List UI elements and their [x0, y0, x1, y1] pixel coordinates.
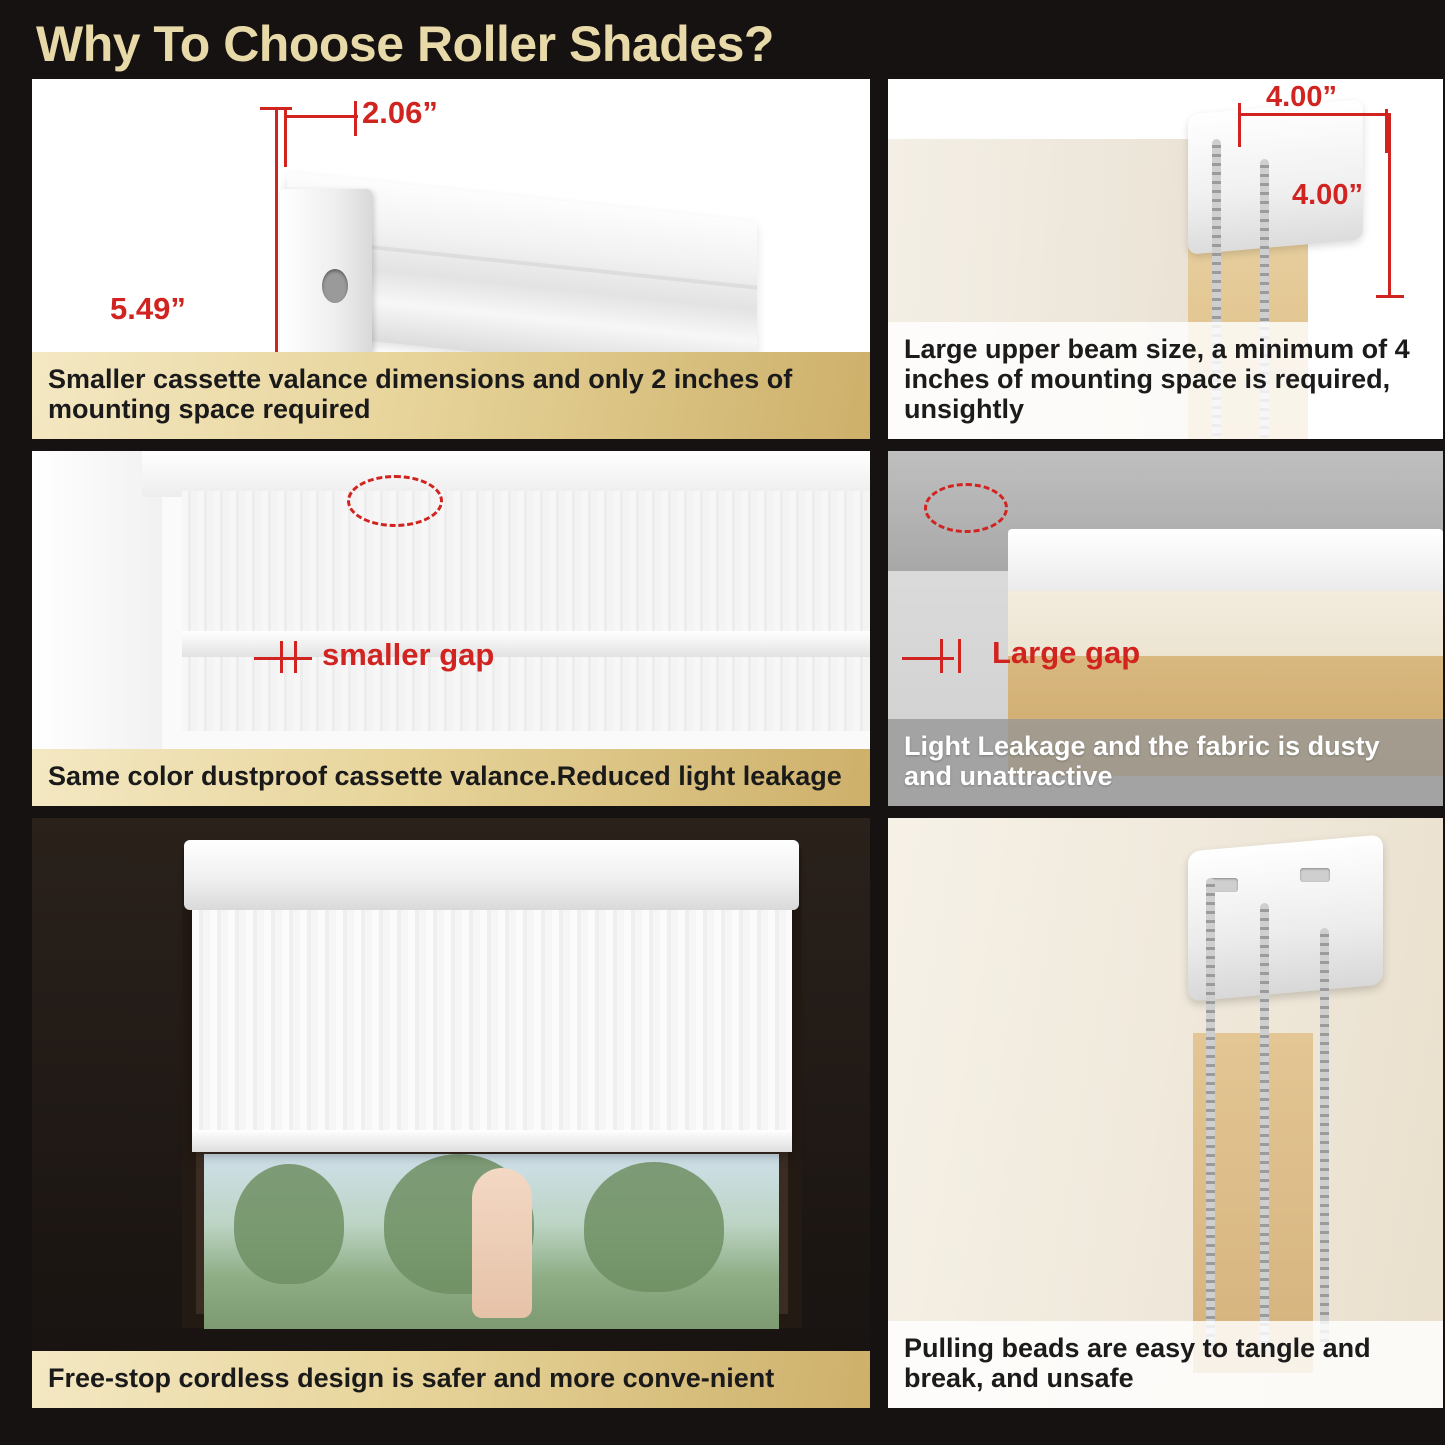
card-grid: 2.06” 5.49” Smaller cassette valance dim… — [18, 79, 1427, 1408]
page-title: Why To Choose Roller Shades? — [18, 0, 1427, 79]
shade-fabric — [182, 491, 870, 731]
card-cassette-valance: 2.06” 5.49” Smaller cassette valance dim… — [32, 79, 870, 439]
bead-chain-middle — [1260, 903, 1269, 1353]
height-dim-tick-top — [260, 107, 292, 110]
card-caption: Same color dustproof cassette valance.Re… — [32, 749, 870, 805]
height-dimension: 5.49” — [110, 291, 186, 327]
gap-arrow-line-left — [902, 657, 954, 660]
card-pulling-beads: Pulling beads are easy to tangle and bre… — [888, 818, 1443, 1408]
width-dimension: 2.06” — [362, 95, 438, 131]
pulling-beads-photo — [888, 818, 1443, 1408]
width-dim-tick-right — [354, 101, 357, 136]
tree-shape — [584, 1162, 724, 1292]
cordless-design-photo — [32, 818, 870, 1408]
upper-valance — [1008, 529, 1443, 599]
gap-tick-1 — [940, 639, 943, 673]
card-caption: Pulling beads are easy to tangle and bre… — [888, 1321, 1443, 1407]
card-large-beam: 4.00” 4.00” Large upper beam size, a min… — [888, 79, 1443, 439]
card-light-leakage: Large gap Light Leakage and the fabric i… — [888, 451, 1443, 806]
beam-width-tick-left — [1238, 103, 1241, 147]
tree-shape — [234, 1164, 344, 1284]
gap-highlight-ellipse — [347, 475, 443, 527]
beam-depth-line — [1388, 113, 1391, 298]
gap-tick-1 — [280, 641, 283, 673]
beam-slot — [1300, 868, 1330, 882]
hand-photo — [472, 1168, 532, 1318]
card-caption: Light Leakage and the fabric is dusty an… — [888, 719, 1443, 805]
card-caption: Large upper beam size, a minimum of 4 in… — [888, 322, 1443, 439]
beam-depth-tick — [1376, 295, 1404, 298]
gap-highlight-ellipse — [924, 483, 1008, 533]
large-gap-label: Large gap — [992, 635, 1140, 671]
beam-depth-dimension: 4.00” — [1292, 179, 1363, 212]
gap-tick-2 — [958, 639, 961, 673]
gap-tick-2 — [294, 641, 297, 673]
beam-width-dimension: 4.00” — [1266, 81, 1337, 114]
bead-chain-left — [1206, 878, 1215, 1348]
cassette-headrail — [184, 840, 799, 910]
gap-arrow-line-left — [254, 657, 312, 660]
infographic-page: Why To Choose Roller Shades? 2.06” 5.49” — [0, 0, 1445, 1445]
card-dustproof-valance: smaller gap Same color dustproof cassett… — [32, 451, 870, 806]
card-caption: Smaller cassette valance dimensions and … — [32, 352, 870, 438]
bottom-bar — [192, 1130, 792, 1152]
card-caption: Free-stop cordless design is safer and m… — [32, 1351, 870, 1407]
bracket-hole — [322, 269, 348, 303]
bead-chain-right — [1320, 928, 1329, 1348]
card-cordless-design: Free-stop cordless design is safer and m… — [32, 818, 870, 1408]
width-dim-line — [284, 115, 358, 118]
upper-beam — [1188, 834, 1383, 1001]
middle-rail — [182, 631, 870, 657]
smaller-gap-label: smaller gap — [322, 637, 494, 673]
